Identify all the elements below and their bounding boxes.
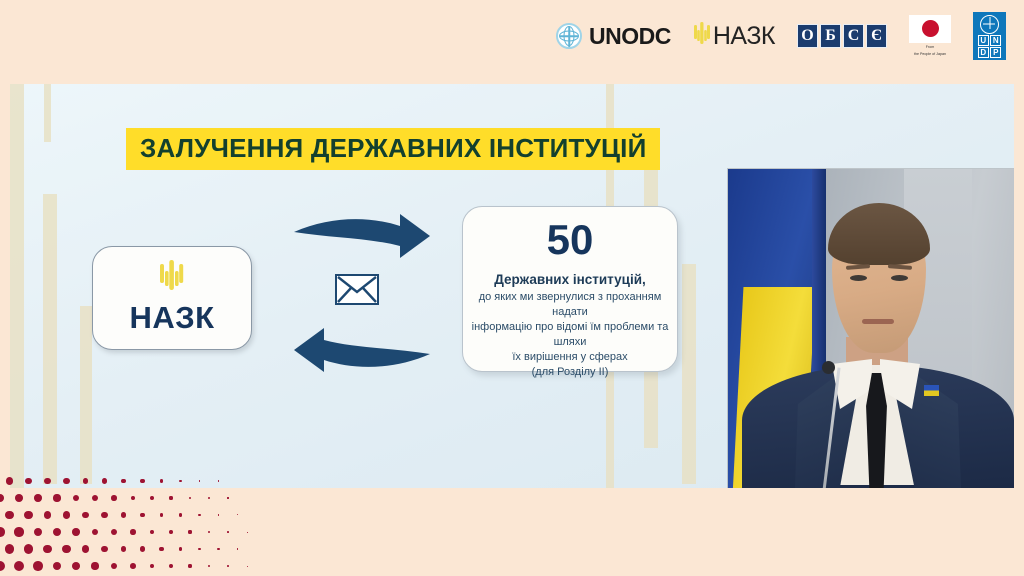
decor-dot — [53, 494, 60, 501]
stat-number: 50 — [547, 219, 594, 261]
stat-body-line: (для Розділу II) — [471, 365, 669, 380]
decor-dot — [160, 479, 163, 482]
decor-dot — [218, 514, 220, 516]
decor-dot — [44, 478, 51, 485]
decor-dot — [189, 497, 192, 500]
ukraine-trident-icon — [693, 22, 711, 50]
speaker-eye-left — [850, 275, 867, 281]
slide-title-banner: ЗАЛУЧЕННЯ ДЕРЖАВНИХ ІНСТИТУЦІЙ — [126, 128, 660, 170]
decor-dot — [150, 530, 155, 535]
decor-dot — [140, 479, 144, 483]
decor-dot-pattern — [0, 488, 340, 576]
decor-dot — [227, 531, 229, 533]
decor-dot — [208, 497, 210, 499]
decor-dot — [73, 495, 80, 502]
decor-dot — [121, 546, 127, 552]
decor-bar — [43, 194, 57, 484]
decor-dot — [169, 496, 172, 499]
decor-dot — [140, 513, 145, 518]
decor-dot — [15, 494, 23, 502]
japan-caption-line2: the People of Japan — [914, 52, 946, 57]
decor-dot — [247, 532, 248, 533]
decor-dot — [208, 531, 210, 533]
decor-dot — [14, 561, 24, 571]
nazk-source-card: НАЗК — [92, 246, 252, 350]
nazk-card-label: НАЗК — [129, 300, 214, 336]
japan-caption-line1: From — [926, 45, 934, 50]
decor-dot — [91, 562, 98, 569]
decor-dot — [159, 547, 163, 551]
decor-bar — [80, 306, 92, 484]
decor-dot — [0, 527, 5, 536]
japan-flag-icon — [909, 15, 951, 43]
speaker-video-feed[interactable] — [728, 169, 1014, 488]
decor-dot — [140, 546, 145, 551]
ukraine-lapel-pin — [924, 385, 939, 396]
decor-dot — [217, 548, 219, 550]
decor-dot — [227, 565, 229, 567]
decor-dot — [0, 561, 5, 572]
decor-dot — [92, 529, 99, 536]
decor-dot — [92, 495, 98, 501]
osce-letter-box: С — [843, 24, 864, 48]
decor-dot — [101, 546, 108, 553]
decor-dot — [34, 528, 43, 537]
decor-dot — [82, 545, 89, 552]
decor-dot — [14, 527, 23, 536]
osce-letter-box: Б — [820, 24, 841, 48]
un-globe-icon — [556, 23, 582, 49]
decor-dot — [111, 495, 116, 500]
decor-dot — [5, 544, 15, 554]
decor-dot — [111, 563, 117, 569]
presentation-slide: ЗАЛУЧЕННЯ ДЕРЖАВНИХ ІНСТИТУЦІЙ НАЗК — [10, 84, 1014, 488]
unodc-logo: UNODC — [556, 23, 671, 50]
stat-body-line: до яких ми звернулися з проханням надати — [471, 290, 669, 320]
decor-dot — [237, 548, 238, 549]
decor-dot — [169, 564, 173, 568]
decor-dot — [130, 563, 136, 569]
decor-dot — [160, 513, 164, 517]
osce-letter-box: О — [797, 24, 818, 48]
decor-dot — [62, 545, 70, 553]
statistic-card: 50 Державних інституцій, до яких ми звер… — [462, 206, 678, 372]
decor-bar — [10, 84, 24, 488]
decor-dot — [101, 512, 107, 518]
decor-dot — [111, 529, 117, 535]
ukraine-trident-icon — [159, 260, 185, 298]
decor-dot — [198, 548, 201, 551]
decor-dot — [5, 511, 13, 519]
decor-dot — [121, 512, 126, 517]
arrow-right-curved-icon — [292, 212, 432, 268]
stat-body-line: інформацію про відомі їм проблеми та шля… — [471, 320, 669, 350]
osce-letter-box: Є — [866, 24, 887, 48]
decor-dot — [6, 477, 13, 484]
undp-logo: U N D P — [973, 12, 1006, 60]
undp-letter: P — [990, 47, 1001, 58]
undp-letter: D — [978, 47, 989, 58]
decor-dot — [131, 496, 136, 501]
decor-dot — [188, 564, 191, 567]
flow-diagram — [292, 212, 432, 372]
decor-dot — [208, 565, 210, 567]
undp-emblem-icon — [980, 15, 999, 34]
decor-dot — [179, 513, 182, 516]
decor-dot — [169, 530, 173, 534]
unodc-label: UNODC — [589, 23, 671, 50]
stat-heading: Державних інституцій, — [494, 272, 646, 288]
decor-dot — [34, 494, 41, 501]
decor-bar — [682, 264, 696, 484]
decor-dot — [130, 529, 135, 534]
partner-logo-bar: UNODC НАЗК О Б С Є From the People of Ja… — [0, 0, 1024, 72]
decor-dot — [102, 478, 107, 483]
undp-letter: N — [990, 35, 1001, 46]
page-title: ЗАЛУЧЕННЯ ДЕРЖАВНИХ ІНСТИТУЦІЙ — [140, 133, 646, 163]
envelope-icon — [335, 274, 379, 305]
decor-dot — [53, 562, 62, 571]
osce-logo: О Б С Є — [797, 24, 887, 48]
decor-dot — [44, 511, 52, 519]
decor-dot — [82, 512, 89, 519]
decor-dot — [72, 528, 79, 535]
decor-dot — [218, 480, 219, 481]
decor-dot — [63, 478, 69, 484]
decor-dot — [237, 514, 238, 515]
decor-dot — [0, 494, 4, 502]
japan-logo: From the People of Japan — [909, 15, 951, 58]
undp-letter: U — [978, 35, 989, 46]
decor-dot — [63, 511, 70, 518]
decor-dot — [53, 528, 61, 536]
nazk-label: НАЗК — [713, 22, 775, 51]
decor-dot — [198, 514, 201, 517]
decor-dot — [24, 511, 32, 519]
arrow-left-curved-icon — [292, 318, 432, 374]
decor-dot — [150, 496, 154, 500]
stat-body-line: їх вирішення у сферах — [471, 350, 669, 365]
decor-dot — [188, 530, 191, 533]
decor-dot — [179, 547, 183, 551]
speaker-eye-right — [891, 275, 908, 281]
decor-dot — [227, 497, 228, 498]
decor-dot — [72, 562, 80, 570]
decor-bar — [44, 84, 51, 142]
microphone-head — [822, 361, 835, 374]
decor-dot — [121, 479, 126, 484]
speaker-mouth — [862, 319, 894, 324]
decor-dot — [247, 566, 248, 567]
decor-dot — [43, 545, 52, 554]
decor-dot — [33, 561, 42, 570]
stat-description: до яких ми звернулися з проханням надати… — [463, 290, 677, 380]
nazk-logo: НАЗК — [693, 22, 775, 51]
decor-dot — [150, 564, 155, 569]
decor-dot — [24, 544, 33, 553]
